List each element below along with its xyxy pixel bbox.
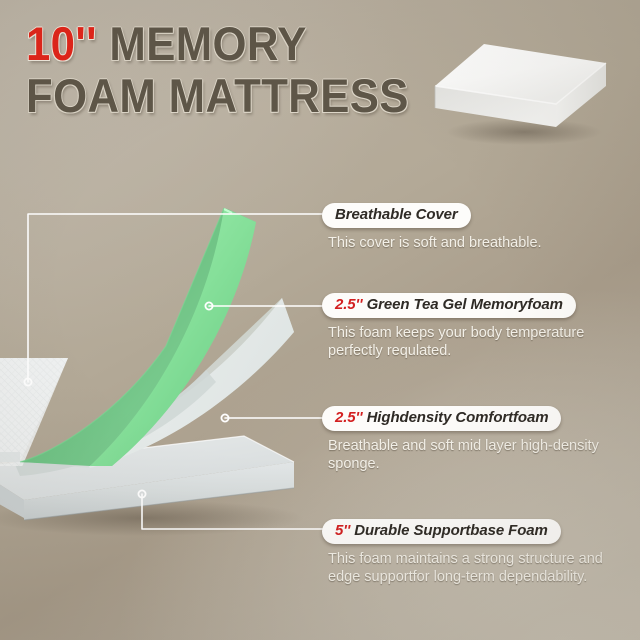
callout-title: 2.5'' Highdensity Comfortfoam (335, 409, 548, 426)
callout-title-text: Durable Supportbase Foam (354, 522, 547, 539)
product-photo (424, 34, 624, 146)
callout-title-text: Breathable Cover (335, 206, 458, 223)
callout-highdensity-comfortfoam: 2.5'' Highdensity Comfortfoam Breathable… (322, 406, 622, 474)
mattress-layer-diagram (0, 200, 324, 540)
callout-measurement: 2.5'' (335, 296, 363, 313)
callout-title: 2.5'' Green Tea Gel Memoryfoam (335, 296, 563, 313)
callout-pill[interactable]: 5'' Durable Supportbase Foam (322, 519, 561, 544)
layer-breathable-cover-shade (0, 452, 20, 462)
product-photo-shadow (446, 119, 602, 145)
callout-description: This foam maintains a strong structure a… (328, 550, 618, 587)
callout-green-tea-gel-memoryfoam: 2.5'' Green Tea Gel Memoryfoam This foam… (322, 293, 622, 361)
callout-breathable-cover: Breathable Cover This cover is soft and … (322, 203, 622, 252)
callout-pill[interactable]: Breathable Cover (322, 203, 471, 228)
callout-measurement: 5'' (335, 522, 350, 539)
callout-title: 5'' Durable Supportbase Foam (335, 522, 548, 539)
callout-title: Breathable Cover (335, 206, 458, 223)
callout-durable-supportbase-foam: 5'' Durable Supportbase Foam This foam m… (322, 519, 622, 587)
infographic-canvas: 10'' MEMORY FOAM MATTRESS (0, 0, 640, 640)
callout-title-text: Green Tea Gel Memoryfoam (367, 296, 563, 313)
callout-pill[interactable]: 2.5'' Highdensity Comfortfoam (322, 406, 561, 431)
callout-description: This foam keeps your body temperature pe… (328, 324, 618, 361)
callout-title-text: Highdensity Comfortfoam (367, 409, 549, 426)
callout-pill[interactable]: 2.5'' Green Tea Gel Memoryfoam (322, 293, 576, 318)
callout-description: Breathable and soft mid layer high-densi… (328, 437, 618, 474)
callout-measurement: 2.5'' (335, 409, 363, 426)
callout-description: This cover is soft and breathable. (328, 234, 618, 252)
